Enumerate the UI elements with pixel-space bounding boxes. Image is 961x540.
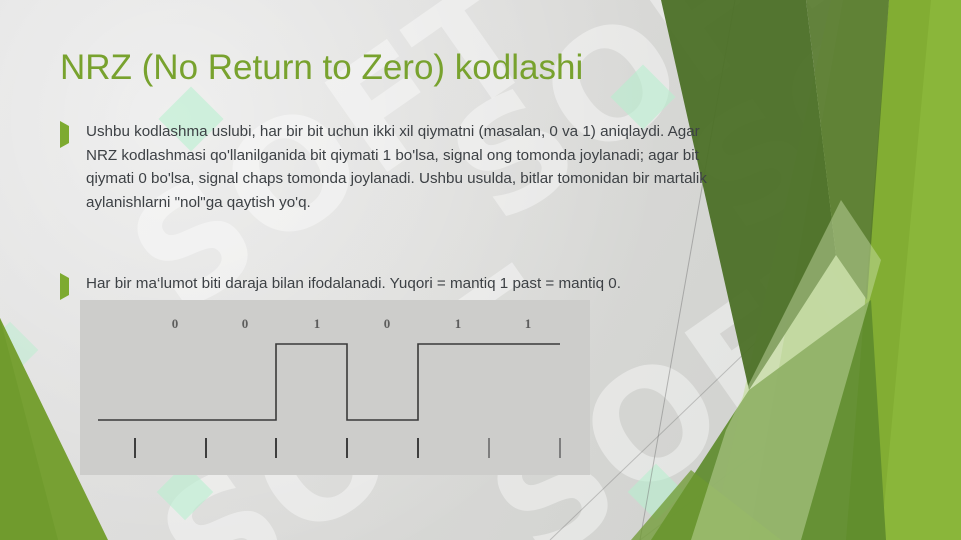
bullet-item: Har bir ma‘lumot biti daraja bilan ifoda… bbox=[60, 272, 732, 296]
page-title: NRZ (No Return to Zero) kodlashi bbox=[60, 48, 583, 88]
triangle-bullet-icon bbox=[60, 278, 74, 296]
bullet-text: Ushbu kodlashma uslubi, har bir bit uchu… bbox=[86, 120, 732, 214]
decoration-right-green-shapes bbox=[631, 0, 961, 540]
nrz-waveform-image: 0 0 1 0 1 1 bbox=[80, 300, 590, 475]
bullet-item: Ushbu kodlashma uslubi, har bir bit uchu… bbox=[60, 120, 732, 214]
presentation-slide: SOFT SOFT SOFT SOFT SOFT SOFT bbox=[0, 0, 961, 540]
triangle-bullet-icon bbox=[60, 126, 74, 144]
bullet-text: Har bir ma‘lumot biti daraja bilan ifoda… bbox=[86, 272, 621, 296]
waveform-plot bbox=[80, 300, 590, 475]
